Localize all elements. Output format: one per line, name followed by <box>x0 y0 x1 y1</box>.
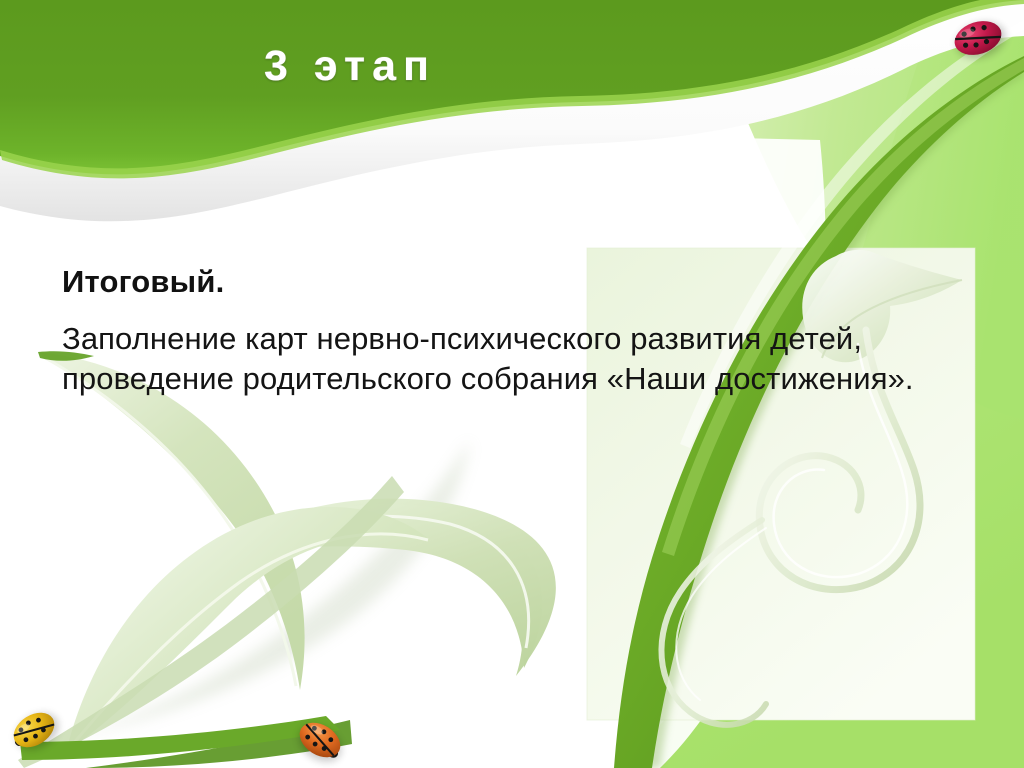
content-lead-line: Итоговый. <box>62 262 942 302</box>
slide-canvas: 3 этап Итоговый. Заполнение карт нервно-… <box>0 0 1024 768</box>
content-paragraph: Заполнение карт нервно-психического разв… <box>62 319 932 398</box>
content-area: Итоговый. Заполнение карт нервно-психиче… <box>62 262 942 398</box>
